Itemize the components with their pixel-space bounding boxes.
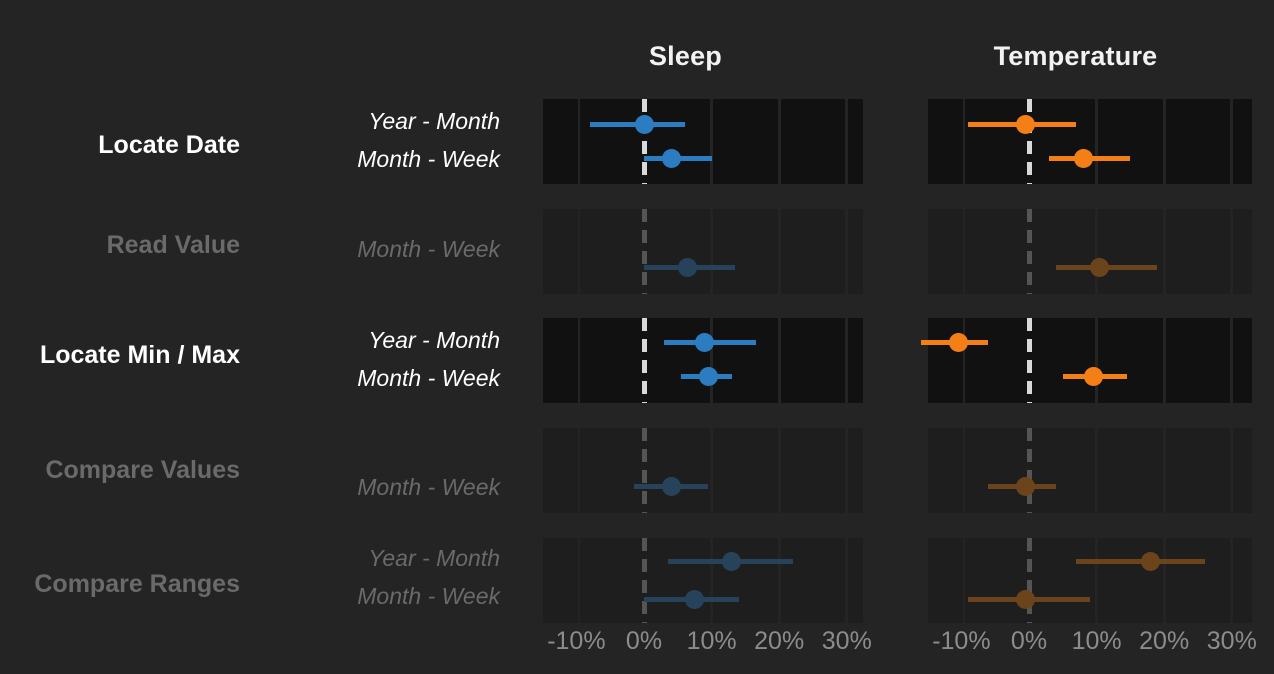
zero-reference-line (1027, 209, 1032, 294)
zero-reference-line (642, 428, 647, 513)
condition-label: Month - Week (200, 474, 500, 501)
plot-band (1233, 428, 1252, 513)
plot-band (848, 318, 863, 403)
plot-band (781, 99, 846, 184)
condition-label: Year - Month (200, 545, 500, 572)
plot-band (781, 538, 846, 623)
plot-band (1166, 538, 1231, 623)
estimate-point (1141, 552, 1160, 571)
plot-band (1166, 428, 1231, 513)
estimate-point (695, 333, 714, 352)
zero-reference-line (642, 538, 647, 623)
estimate-point (635, 115, 654, 134)
estimate-point (662, 477, 681, 496)
plot-band (781, 318, 846, 403)
plot-band (713, 428, 778, 513)
plot-band (1098, 209, 1163, 294)
plot-band (543, 99, 578, 184)
plot-band (848, 428, 863, 513)
estimate-point (722, 552, 741, 571)
plot-band (781, 209, 846, 294)
plot-band (1098, 99, 1163, 184)
zero-reference-line (1027, 538, 1032, 623)
plot-band (1166, 209, 1231, 294)
zero-reference-line (642, 99, 647, 184)
zero-reference-line (642, 209, 647, 294)
zero-reference-line (1027, 428, 1032, 513)
estimate-point (678, 258, 697, 277)
condition-label: Month - Week (200, 236, 500, 263)
plot-band (1233, 99, 1252, 184)
estimate-point (685, 590, 704, 609)
plot-band (928, 209, 963, 294)
estimate-point (662, 149, 681, 168)
plot-band (1098, 318, 1163, 403)
plot-band (928, 318, 963, 403)
plot-band (928, 99, 963, 184)
plot-band (1233, 538, 1252, 623)
estimate-point (1084, 367, 1103, 386)
estimate-point (1074, 149, 1093, 168)
zero-reference-line (1027, 318, 1032, 403)
condition-label: Month - Week (200, 365, 500, 392)
plot-band (1233, 209, 1252, 294)
plot-band (713, 318, 778, 403)
plot-band (543, 428, 578, 513)
estimate-point (1016, 115, 1035, 134)
plot-band (543, 538, 578, 623)
plot-band (1098, 538, 1163, 623)
plot-band (848, 99, 863, 184)
plot-band (928, 538, 963, 623)
condition-label: Year - Month (200, 108, 500, 135)
plot-band (543, 318, 578, 403)
zero-reference-line (642, 318, 647, 403)
estimate-point (1090, 258, 1109, 277)
plot-band (543, 209, 578, 294)
estimate-point (949, 333, 968, 352)
plot-band (781, 428, 846, 513)
condition-label: Year - Month (200, 327, 500, 354)
zero-reference-line (1027, 99, 1032, 184)
panel-title-sleep: Sleep (508, 41, 863, 72)
plot-band (713, 538, 778, 623)
estimate-point (1016, 590, 1035, 609)
x-axis-tick-label: 30% (1187, 627, 1274, 656)
plot-band (928, 428, 963, 513)
plot-band (848, 538, 863, 623)
estimate-point (699, 367, 718, 386)
panel-title-temperature: Temperature (893, 41, 1258, 72)
plot-band (848, 209, 863, 294)
plot-band (1166, 99, 1231, 184)
plot-band (1098, 428, 1163, 513)
estimate-point (1016, 477, 1035, 496)
forest-plot-figure: SleepTemperatureLocate DateRead ValueLoc… (0, 0, 1274, 674)
plot-band (1233, 318, 1252, 403)
plot-band (713, 99, 778, 184)
condition-label: Month - Week (200, 146, 500, 173)
plot-band (1166, 318, 1231, 403)
x-axis-tick-label: 30% (802, 627, 892, 656)
plot-band (713, 209, 778, 294)
condition-label: Month - Week (200, 583, 500, 610)
